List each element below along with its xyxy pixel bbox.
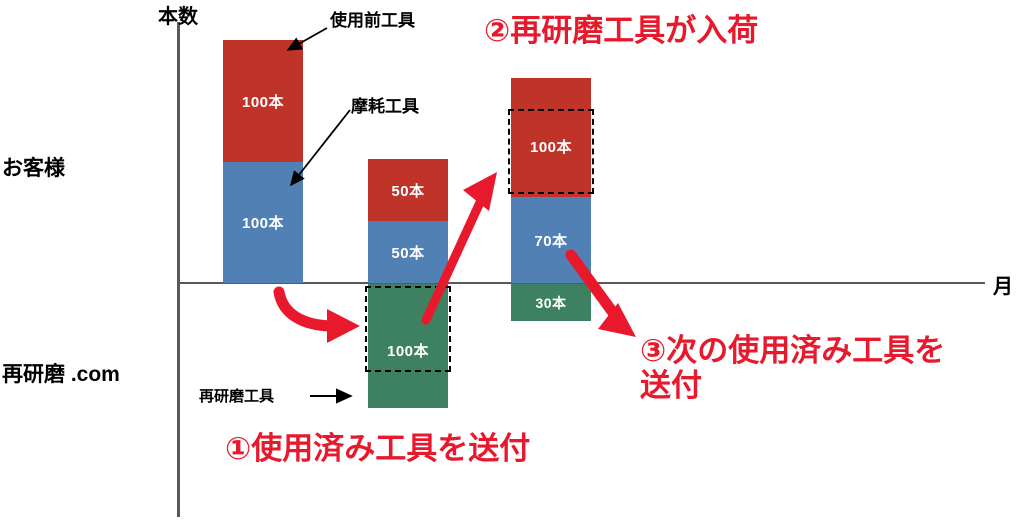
bar-1-worn-value: 100本 [242, 212, 284, 233]
annotation-pre-use-tool: 使用前工具 [330, 6, 415, 31]
bar-2-reground-highlight-box [365, 286, 451, 372]
bar-3-worn-value: 70本 [534, 230, 567, 251]
bar-3-pre-use-highlight-box [508, 109, 594, 194]
diagram-canvas: 本数 月 お客様 再研磨 .com 100本 100本 50本 50本 100本… [0, 0, 1021, 521]
bar-2-segment-pre-use: 50本 [368, 159, 448, 221]
bar-3-segment-worn: 70本 [511, 197, 591, 283]
callout-step-2: ②再研磨工具が入荷 [484, 14, 758, 49]
bar-1-segment-worn: 100本 [223, 162, 303, 283]
role-label-service: 再研磨 .com [2, 358, 120, 388]
role-label-customer: お客様 [2, 152, 65, 182]
y-axis [177, 22, 180, 517]
callout-step-3: ③次の使用済み工具を 送付 [640, 334, 945, 403]
bar-2-pre-use-value: 50本 [391, 180, 424, 201]
bar-3-segment-reground: 30本 [511, 284, 591, 321]
bar-1-segment-pre-use: 100本 [223, 40, 303, 162]
bar-3-reground-value: 30本 [535, 293, 566, 313]
flow-arrow-step-1 [279, 292, 360, 343]
bar-1-pre-use-value: 100本 [242, 91, 284, 112]
bar-2-worn-value: 50本 [391, 242, 424, 263]
y-axis-label: 本数 [158, 0, 198, 29]
annotation-worn-tool: 摩耗工具 [351, 92, 419, 117]
annotation-reground-tool: 再研磨工具 [199, 385, 274, 406]
callout-step-1: ①使用済み工具を送付 [225, 432, 530, 467]
x-axis-label: 月 [993, 270, 1013, 299]
bar-2-segment-worn: 50本 [368, 221, 448, 283]
